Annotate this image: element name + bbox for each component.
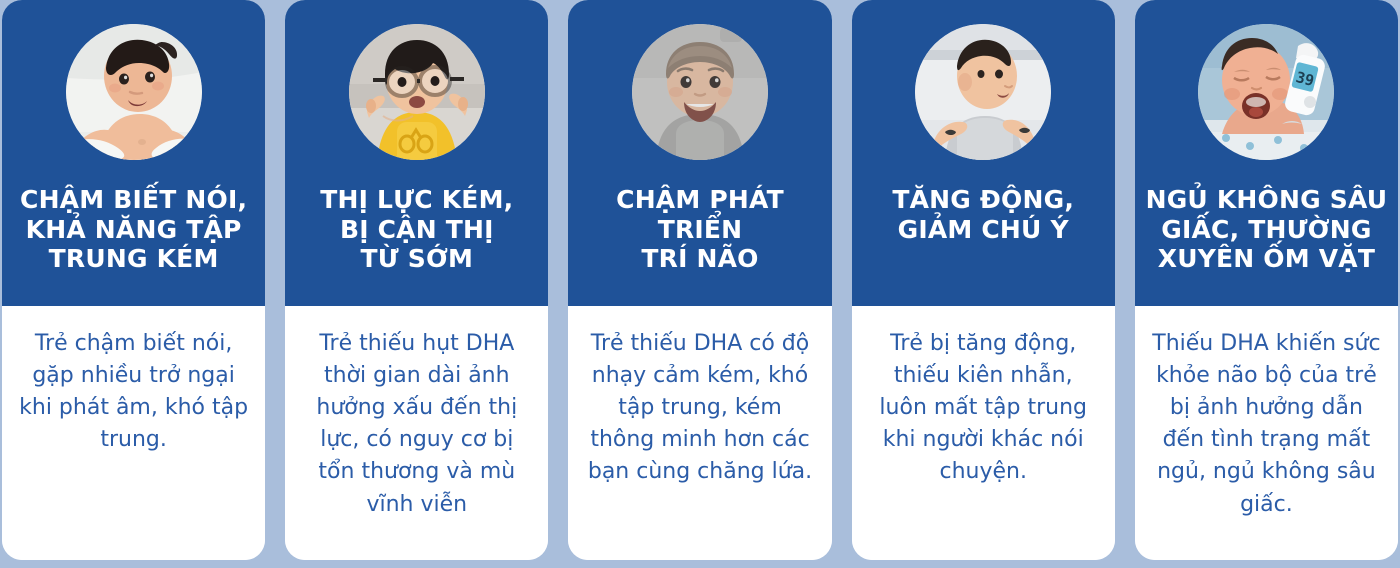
card-description: Trẻ thiếu hụt DHA thời gian dài ảnh hưởn… (301, 328, 532, 560)
symptom-card[interactable]: 39 NGỦ KHÔNG SÂU GIẤC, THƯỜNG XUYÊN ỐM V… (1135, 0, 1398, 560)
card-body: Trẻ thiếu DHA có độ nhạy cảm kém, khó tậ… (568, 306, 831, 560)
card-header: 39 NGỦ KHÔNG SÂU GIẤC, THƯỜNG XUYÊN ỐM V… (1135, 0, 1398, 306)
card-description: Trẻ bị tăng động, thiếu kiên nhẫn, luôn … (868, 328, 1099, 560)
card-header: TĂNG ĐỘNG, GIẢM CHÚ Ý (852, 0, 1115, 306)
card-description: Trẻ thiếu DHA có độ nhạy cảm kém, khó tậ… (584, 328, 815, 560)
symptom-card[interactable]: CHẬM PHÁT TRIỂN TRÍ NÃO Trẻ thiếu DHA có… (568, 0, 831, 560)
crying-baby-thermometer-photo: 39 (1198, 24, 1334, 160)
card-description: Trẻ chậm biết nói, gặp nhiều trở ngại kh… (18, 328, 249, 560)
card-body: Trẻ thiếu hụt DHA thời gian dài ảnh hưởn… (285, 306, 548, 560)
restless-baby-photo (915, 24, 1051, 160)
symptom-card[interactable]: CHẬM BIẾT NÓI, KHẢ NĂNG TẬP TRUNG KÉM Tr… (2, 0, 265, 560)
card-header: CHẬM BIẾT NÓI, KHẢ NĂNG TẬP TRUNG KÉM (2, 0, 265, 306)
card-title: TĂNG ĐỘNG, GIẢM CHÚ Ý (886, 185, 1080, 244)
card-body: Trẻ chậm biết nói, gặp nhiều trở ngại kh… (2, 306, 265, 560)
card-body: Trẻ bị tăng động, thiếu kiên nhẫn, luôn … (852, 306, 1115, 560)
baby-lying-down-photo (66, 24, 202, 160)
boy-wearing-glasses-photo (349, 24, 485, 160)
card-title: CHẬM BIẾT NÓI, KHẢ NĂNG TẬP TRUNG KÉM (14, 185, 253, 274)
card-header: THỊ LỰC KÉM, BỊ CẬN THỊ TỪ SỚM (285, 0, 548, 306)
smiling-baby-photo (632, 24, 768, 160)
symptom-card[interactable]: THỊ LỰC KÉM, BỊ CẬN THỊ TỪ SỚM Trẻ thiếu… (285, 0, 548, 560)
card-title: THỊ LỰC KÉM, BỊ CẬN THỊ TỪ SỚM (314, 185, 519, 274)
card-title: CHẬM PHÁT TRIỂN TRÍ NÃO (610, 185, 790, 274)
card-title: NGỦ KHÔNG SÂU GIẤC, THƯỜNG XUYÊN ỐM VẶT (1140, 185, 1394, 274)
card-header: CHẬM PHÁT TRIỂN TRÍ NÃO (568, 0, 831, 306)
symptom-card[interactable]: TĂNG ĐỘNG, GIẢM CHÚ Ý Trẻ bị tăng động, … (852, 0, 1115, 560)
card-description: Thiếu DHA khiến sức khỏe não bộ của trẻ … (1151, 328, 1382, 560)
card-body: Thiếu DHA khiến sức khỏe não bộ của trẻ … (1135, 306, 1398, 560)
symptom-cards-row: CHẬM BIẾT NÓI, KHẢ NĂNG TẬP TRUNG KÉM Tr… (0, 0, 1400, 568)
